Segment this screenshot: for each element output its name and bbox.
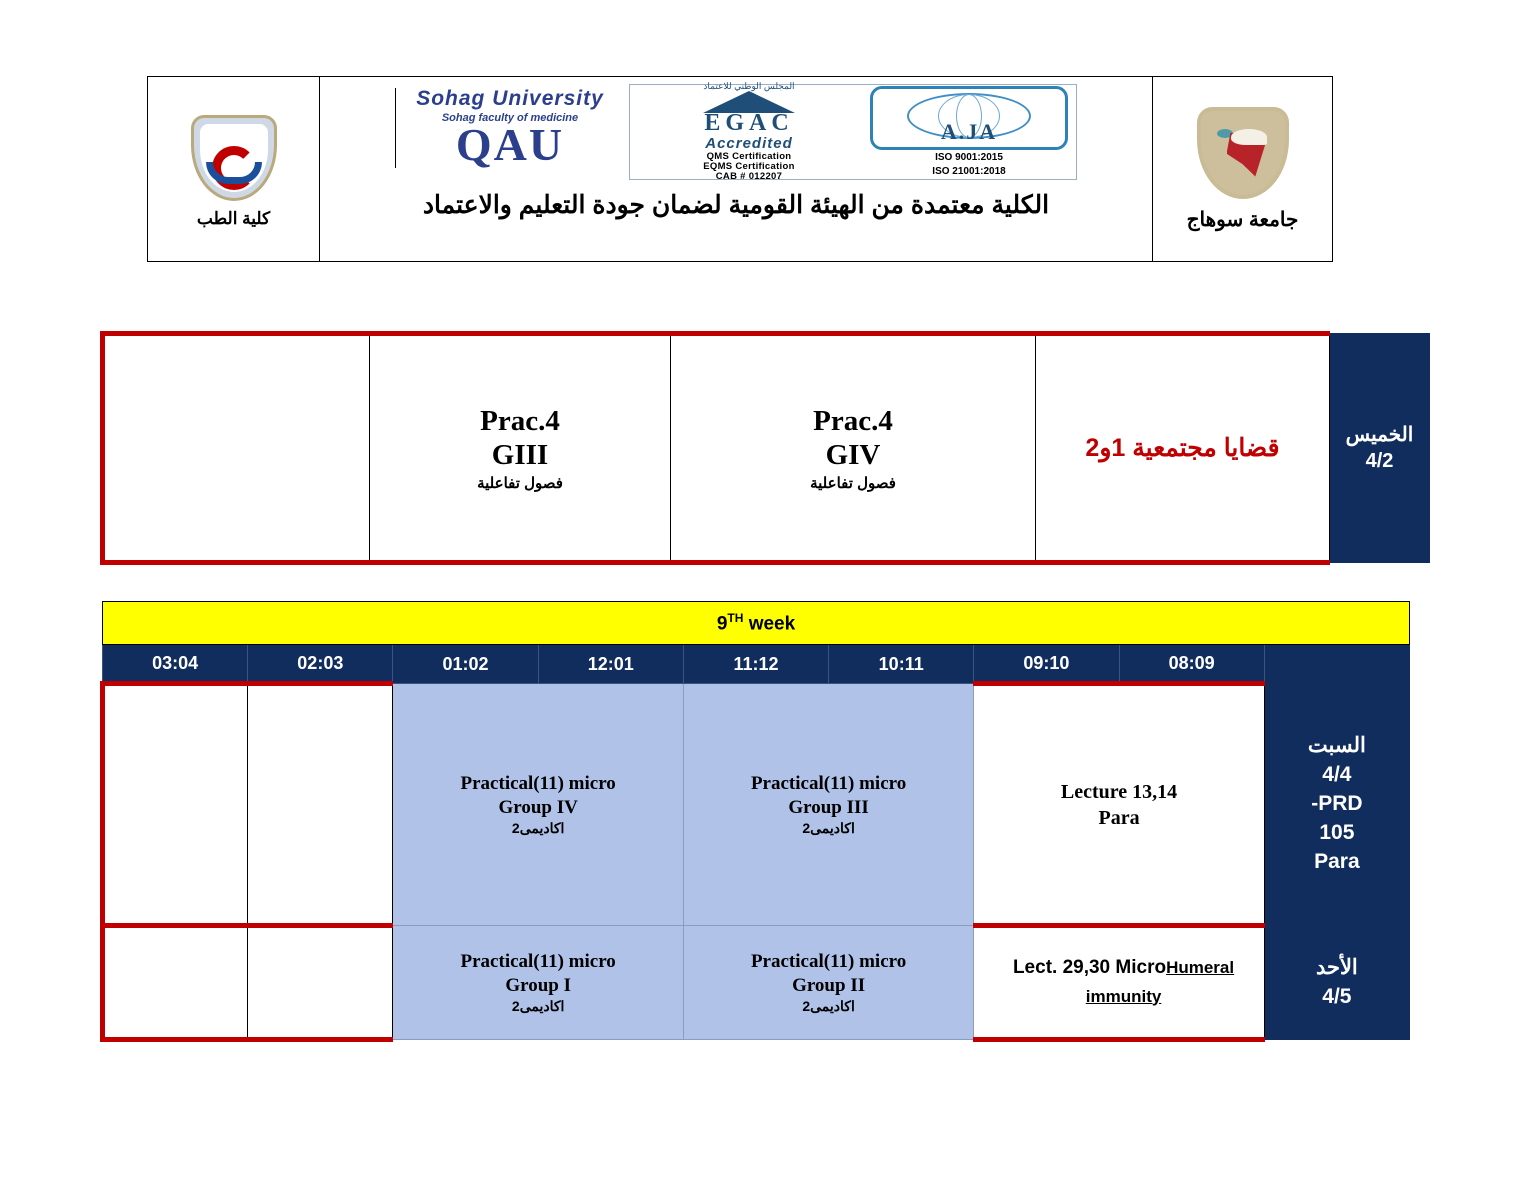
sunday-day-cell: الأحد 4/5 [1264,926,1409,1040]
prac-title: Prac.4 [672,404,1034,438]
thursday-cell-prac4-giii[interactable]: Prac.4 GIII فصول تفاعلية [370,334,671,563]
aja-iso-line-2: ISO 21001:2018 [870,166,1068,179]
time-header-0102[interactable]: 01:02 [393,645,538,684]
day-course-code-line1: PRD- [1266,790,1408,819]
week-ordinal-suffix: TH [727,611,743,625]
saturday-cell-practical-group-iii[interactable]: Practical(11) micro Group III اكاديمى2 [683,684,973,926]
sunday-cell-practical-group-ii[interactable]: Practical(11) micro Group II اكاديمى2 [683,926,973,1040]
egac-name: EGAC [638,111,860,136]
aja-iso-line-1: ISO 9001:2015 [870,152,1068,165]
university-logo-caption: جامعة سوهاج [1187,207,1299,232]
time-header-1011[interactable]: 10:11 [829,645,974,684]
qau-abbreviation: QAU [395,122,625,168]
aja-name: A.JA [873,119,1065,145]
practical-title: Practical(11) micro [685,950,972,974]
practical-location-ar: اكاديمى2 [394,820,681,838]
accreditation-header-banner: كلية الطب Sohag University Sohag faculty… [147,76,1333,262]
week-word: week [749,613,795,634]
sohag-university-crest-icon [1197,107,1289,199]
saturday-cell-practical-group-iv[interactable]: Practical(11) micro Group IV اكاديمى2 [393,684,683,926]
practical-title: Practical(11) micro [685,772,972,796]
egac-line-3: CAB # 012207 [638,172,860,182]
thursday-cell-prac4-giv[interactable]: Prac.4 GIV فصول تفاعلية [671,334,1036,563]
table-row: Prac.4 GIII فصول تفاعلية Prac.4 GIV فصول… [103,334,1430,563]
practical-group: Group I [394,974,681,998]
qau-arc-text: Sohag University [395,88,625,109]
saturday-cell-lecture[interactable]: Lecture 13,14 Para [974,684,1264,926]
practical-location-ar: اكاديمى2 [685,998,972,1016]
time-header-1112[interactable]: 11:12 [683,645,828,684]
egac-logo: المجلس الوطني للاعتماد EGAC Accredited Q… [638,82,860,182]
table-row: Practical(11) micro Group IV اكاديمى2 Pr… [103,684,1410,926]
day-name: الأحد [1266,954,1408,983]
sunday-cell-0203[interactable] [248,926,393,1040]
certification-logos-box: المجلس الوطني للاعتماد EGAC Accredited Q… [629,84,1077,180]
prac-location-ar: فصول تفاعلية [672,474,1034,492]
practical-location-ar: اكاديمى2 [685,820,972,838]
saturday-day-cell: السبت 4/4 PRD- 105 Para [1264,684,1409,926]
week-number: 9 [717,613,728,634]
week-banner: 9TH week [103,602,1410,645]
sohag-university-logo-cell: جامعة سوهاج [1152,77,1332,261]
lecture-title: Lecture 13,14 [975,779,1262,805]
thursday-schedule-table: Prac.4 GIII فصول تفاعلية Prac.4 GIV فصول… [100,331,1430,565]
lecture-course: Para [975,805,1262,831]
header-center-block: Sohag University Sohag faculty of medici… [320,77,1152,261]
time-header-0809[interactable]: 08:09 [1119,645,1264,684]
day-name: الخميس [1331,422,1428,448]
community-issues-label: قضايا مجتمعية 1و2 [1037,433,1328,463]
day-date: 4/4 [1266,761,1408,790]
egac-accredited-label: Accredited [638,136,860,152]
sunday-cell-0304[interactable] [103,926,248,1040]
saturday-cell-0203[interactable] [248,684,393,926]
time-header-0203[interactable]: 02:03 [248,645,393,684]
day-date: 4/2 [1331,448,1428,474]
time-header-1201[interactable]: 12:01 [538,645,683,684]
time-header-0910[interactable]: 09:10 [974,645,1119,684]
time-header-row: 03:04 02:03 01:02 12:01 11:12 10:11 09:1… [103,645,1410,684]
egac-arabic-text: المجلس الوطني للاعتماد [638,82,860,91]
day-course-name: Para [1266,848,1408,877]
week9-schedule-table: 9TH week 03:04 02:03 01:02 12:01 11:12 1… [100,601,1410,1042]
qau-logo: Sohag University Sohag faculty of medici… [395,88,625,168]
day-course-code-line2: 105 [1266,819,1408,848]
day-date: 4/5 [1266,983,1408,1012]
day-name: السبت [1266,732,1408,761]
sunday-cell-practical-group-i[interactable]: Practical(11) micro Group I اكاديمى2 [393,926,683,1040]
sunday-cell-lecture[interactable]: Lect. 29,30 MicroHumeral immunity [974,926,1264,1040]
prac-group: GIII [371,438,669,472]
faculty-logo-caption: كلية الطب [197,209,270,229]
faculty-of-medicine-logo-cell: كلية الطب [148,77,320,261]
thursday-cell-community-issues[interactable]: قضايا مجتمعية 1و2 [1036,334,1330,563]
practical-title: Practical(11) micro [394,772,681,796]
practical-title: Practical(11) micro [394,950,681,974]
accreditation-statement: الكلية معتمدة من الهيئة القومية لضمان جو… [336,189,1136,223]
aja-logo: A.JA ISO 9001:2015 ISO 21001:2018 [870,86,1068,179]
prac-title: Prac.4 [371,404,669,438]
time-header-corner [1264,645,1409,684]
thursday-cell-empty[interactable] [103,334,370,563]
practical-group: Group IV [394,796,681,820]
lecture-title: Lect. 29,30 Micro [1013,957,1166,978]
time-header-0304[interactable]: 03:04 [103,645,248,684]
prac-location-ar: فصول تفاعلية [371,474,669,492]
practical-location-ar: اكاديمى2 [394,998,681,1016]
practical-group: Group II [685,974,972,998]
prac-group: GIV [672,438,1034,472]
practical-group: Group III [685,796,972,820]
saturday-cell-0304[interactable] [103,684,248,926]
week-banner-row: 9TH week [103,602,1410,645]
thursday-day-cell: الخميس 4/2 [1330,334,1430,563]
table-row: Practical(11) micro Group I اكاديمى2 Pra… [103,926,1410,1040]
faculty-of-medicine-crest-icon [191,115,277,201]
